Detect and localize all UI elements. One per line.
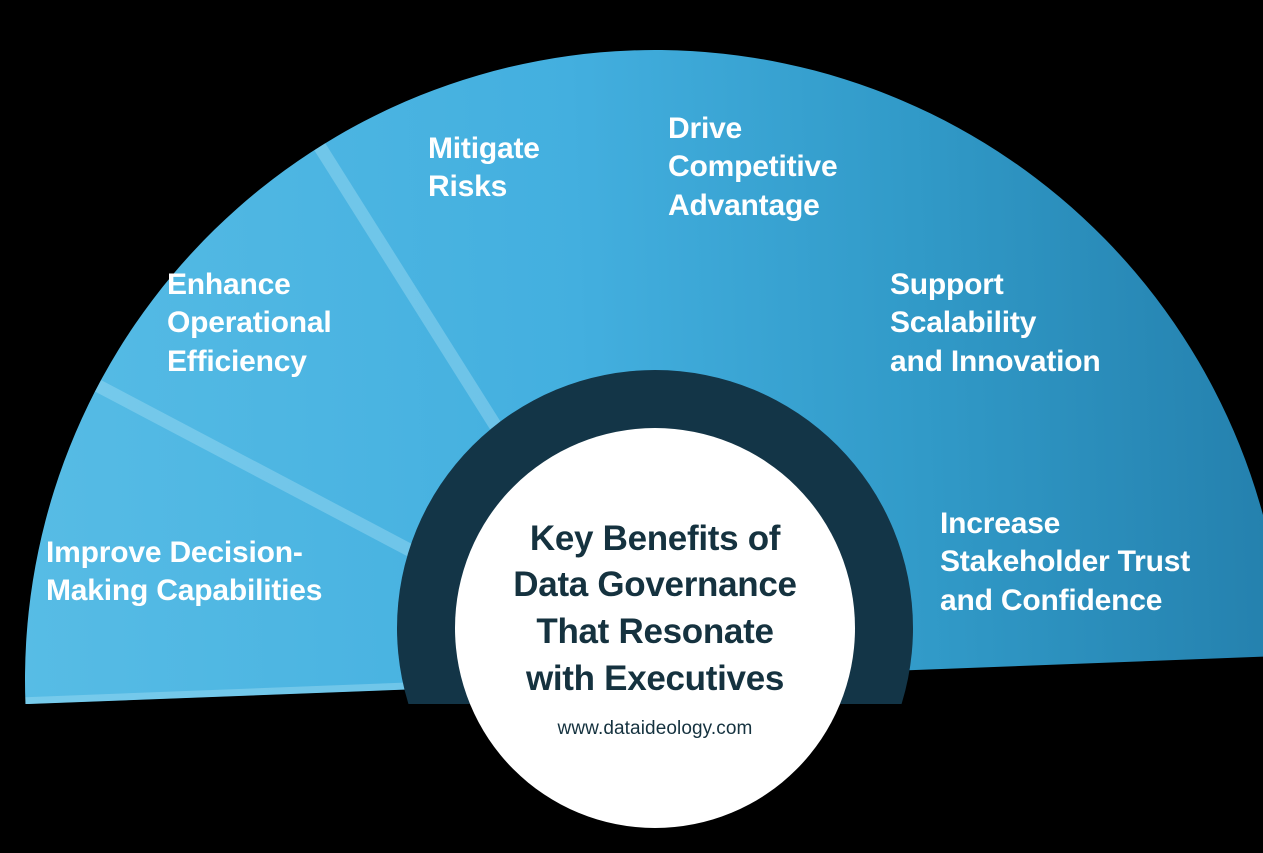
segment-label-increase-stakeholder-trust: Increase Stakeholder Trust and Confidenc… (940, 505, 1240, 620)
segment-label-mitigate-risks: Mitigate Risks (428, 130, 648, 207)
website-url: www.dataideology.com (558, 718, 753, 740)
segment-label-enhance-operational-efficiency: Enhance Operational Efficiency (167, 266, 427, 381)
center-title: Key Benefits of Data Governance That Res… (513, 516, 796, 702)
center-circle: Key Benefits of Data Governance That Res… (455, 428, 855, 828)
infographic-canvas: Improve Decision- Making Capabilities En… (0, 0, 1263, 853)
segment-label-support-scalability-innovation: Support Scalability and Innovation (890, 266, 1170, 381)
segment-label-improve-decision-making: Improve Decision- Making Capabilities (46, 534, 376, 611)
segment-label-drive-competitive-advantage: Drive Competitive Advantage (668, 110, 908, 225)
